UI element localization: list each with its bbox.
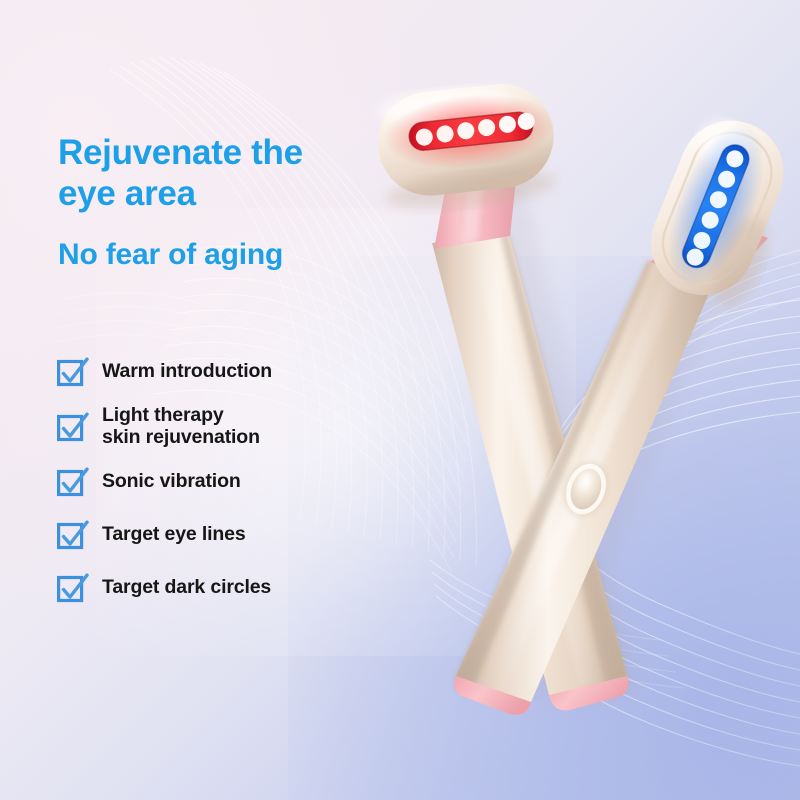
checkbox-checked-icon: [56, 572, 90, 604]
subheadline: No fear of aging: [58, 238, 398, 273]
headline-line-1: Rejuvenate the: [58, 133, 388, 174]
feature-item-target-eye-lines: Target eye lines: [56, 515, 386, 555]
feature-list: Warm introduction Light therapy skin rej…: [56, 352, 386, 621]
checkbox-checked-icon: [56, 466, 90, 498]
product-advertisement-image: Rejuvenate the eye area No fear of aging…: [0, 0, 800, 800]
feature-label: Sonic vibration: [102, 471, 241, 493]
feature-item-target-dark-circles: Target dark circles: [56, 568, 386, 608]
checkbox-checked-icon: [56, 356, 90, 388]
headline: Rejuvenate the eye area: [58, 133, 388, 215]
wand-red-head: [373, 79, 562, 216]
feature-label: Target eye lines: [102, 524, 246, 546]
feature-item-sonic-vibration: Sonic vibration: [56, 462, 386, 502]
headline-line-2: eye area: [58, 174, 388, 215]
feature-item-light-therapy: Light therapy skin rejuvenation: [56, 405, 386, 449]
feature-item-warm-introduction: Warm introduction: [56, 352, 386, 392]
checkbox-checked-icon: [56, 411, 90, 443]
checkbox-checked-icon: [56, 519, 90, 551]
feature-label: Target dark circles: [102, 577, 271, 599]
feature-label: Warm introduction: [102, 361, 272, 383]
feature-label: Light therapy skin rejuvenation: [102, 405, 260, 449]
